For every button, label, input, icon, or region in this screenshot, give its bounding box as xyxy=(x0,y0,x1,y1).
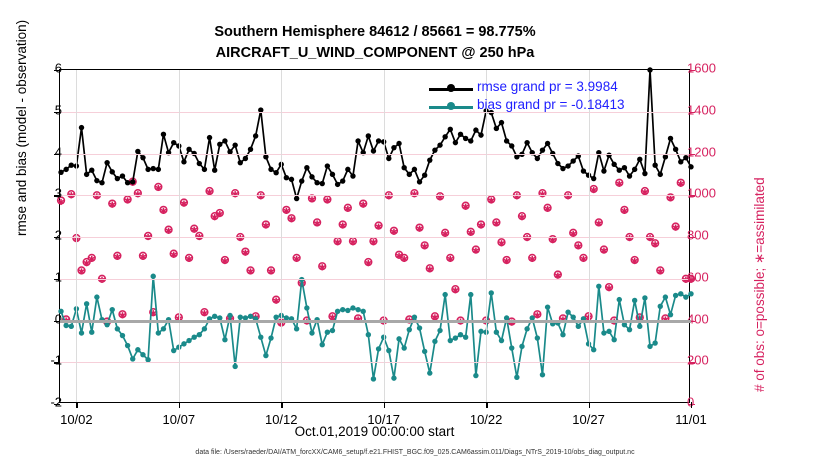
series-point xyxy=(156,330,161,335)
plot-area: 6543210-1-216001400120010008006004002000… xyxy=(59,69,690,403)
series-point xyxy=(576,324,581,329)
series-point xyxy=(632,298,637,303)
series-point xyxy=(340,178,345,183)
series-point xyxy=(499,338,504,343)
gridline-horizontal xyxy=(60,195,691,196)
y-tick-label-right: 600 xyxy=(687,269,709,284)
series-point xyxy=(591,347,596,352)
series-point xyxy=(407,327,412,332)
series-point xyxy=(658,304,663,309)
series-point xyxy=(601,168,606,173)
series-point xyxy=(115,176,120,181)
x-axis-title: Oct.01,2019 00:00:00 start xyxy=(59,424,690,439)
series-point xyxy=(94,178,99,183)
chart-page: Southern Hemisphere 84612 / 85661 = 98.7… xyxy=(0,0,830,470)
series-point xyxy=(427,157,432,162)
series-point xyxy=(69,162,74,167)
series-point xyxy=(473,127,478,132)
series-point xyxy=(437,328,442,333)
series-point xyxy=(366,332,371,337)
series-point xyxy=(683,294,688,299)
series-point xyxy=(156,167,161,172)
series-point xyxy=(463,335,468,340)
series-point xyxy=(647,344,652,349)
legend-label-bias: bias grand pr = -0.18413 xyxy=(477,97,624,112)
series-point xyxy=(181,341,186,346)
series-point xyxy=(371,376,376,381)
series-point xyxy=(432,147,437,152)
gridline-vertical xyxy=(179,70,180,404)
series-point xyxy=(151,166,156,171)
series-point xyxy=(263,353,268,358)
series-point xyxy=(504,138,509,143)
series-point xyxy=(299,178,304,183)
series-point xyxy=(540,372,545,377)
series-point xyxy=(489,290,494,295)
series-point xyxy=(253,133,258,138)
series-point xyxy=(545,304,550,309)
series-point xyxy=(437,142,442,147)
series-point xyxy=(591,176,596,181)
y-tick-label-left: 0 xyxy=(55,311,62,326)
series-point xyxy=(232,364,237,369)
series-point xyxy=(186,338,191,343)
series-point xyxy=(186,147,191,152)
series-point xyxy=(258,335,263,340)
series-point xyxy=(376,346,381,351)
series-point xyxy=(181,159,186,164)
x-tick xyxy=(691,402,692,408)
series-point xyxy=(688,291,693,296)
series-point xyxy=(535,156,540,161)
series-point xyxy=(427,370,432,375)
series-point xyxy=(79,125,84,130)
series-point xyxy=(647,67,652,72)
y-tick-label-right: 800 xyxy=(687,228,709,243)
title-line-1: Southern Hemisphere 84612 / 85661 = 98.7… xyxy=(0,22,750,43)
left-axis-title: rmse and bias (model - observation) xyxy=(14,20,29,236)
series-point xyxy=(120,173,125,178)
series-point xyxy=(125,343,130,348)
series-point xyxy=(668,136,673,141)
y-tick-label-left: 6 xyxy=(55,61,62,76)
series-point xyxy=(448,338,453,343)
series-point xyxy=(663,154,668,159)
y-tick-label-left: 1 xyxy=(55,269,62,284)
series-point xyxy=(524,326,529,331)
series-point xyxy=(468,138,473,143)
series-point xyxy=(458,332,463,337)
series-point xyxy=(652,162,657,167)
series-point xyxy=(89,329,94,334)
series-point xyxy=(509,143,514,148)
series-point xyxy=(637,157,642,162)
y-tick-label-left: 3 xyxy=(55,186,62,201)
series-point xyxy=(519,344,524,349)
series-point xyxy=(376,138,381,143)
series-point xyxy=(309,330,314,335)
series-point xyxy=(478,132,483,137)
series-point xyxy=(130,179,135,184)
series-point xyxy=(494,126,499,131)
series-point xyxy=(227,313,232,318)
series-point xyxy=(161,326,166,331)
x-tick xyxy=(76,402,77,408)
series-point xyxy=(84,172,89,177)
legend-marker-rmse xyxy=(447,84,455,92)
series-point xyxy=(396,141,401,146)
series-point xyxy=(442,134,447,139)
series-point xyxy=(268,335,273,340)
series-point xyxy=(330,328,335,333)
y-tick-label-right: 1600 xyxy=(687,61,716,76)
series-point xyxy=(330,172,335,177)
series-line xyxy=(61,276,691,379)
series-point xyxy=(84,301,89,306)
series-point xyxy=(115,326,120,331)
series-point xyxy=(350,305,355,310)
series-point xyxy=(99,180,104,185)
series-point xyxy=(494,329,499,334)
series-point xyxy=(304,165,309,170)
series-point xyxy=(340,307,345,312)
series-point xyxy=(396,336,401,341)
series-point xyxy=(601,330,606,335)
series-point xyxy=(565,309,570,314)
series-point xyxy=(581,168,586,173)
series-point xyxy=(171,140,176,145)
series-point xyxy=(361,309,366,314)
series-point xyxy=(401,345,406,350)
series-point xyxy=(442,292,447,297)
series-point xyxy=(248,147,253,152)
series-point xyxy=(104,322,109,327)
zero-reference-line xyxy=(60,320,691,323)
title-line-2: AIRCRAFT_U_WIND_COMPONENT @ 250 hPa xyxy=(0,43,750,64)
y-tick-label-right: 1000 xyxy=(687,186,716,201)
series-point xyxy=(212,168,217,173)
series-point xyxy=(202,167,207,172)
gridline-horizontal xyxy=(60,237,691,238)
series-point xyxy=(453,335,458,340)
gridline-vertical xyxy=(76,70,77,404)
series-point xyxy=(642,171,647,176)
series-point xyxy=(432,339,437,344)
series-point xyxy=(678,159,683,164)
series-point xyxy=(417,325,422,330)
series-point xyxy=(514,375,519,380)
y-tick-label-right: 200 xyxy=(687,353,709,368)
series-point xyxy=(658,172,663,177)
series-point xyxy=(207,135,212,140)
series-point xyxy=(422,173,427,178)
series-point xyxy=(545,141,550,146)
series-point xyxy=(63,323,68,328)
series-point xyxy=(284,175,289,180)
series-point xyxy=(632,167,637,172)
y-tick-label-left: 2 xyxy=(55,228,62,243)
series-point xyxy=(478,329,483,334)
series-point xyxy=(79,330,84,335)
series-point xyxy=(120,333,125,338)
series-point xyxy=(622,322,627,327)
series-point xyxy=(535,335,540,340)
series-point xyxy=(110,307,115,312)
series-point xyxy=(355,307,360,312)
series-point xyxy=(335,182,340,187)
series-point xyxy=(611,337,616,342)
series-point xyxy=(412,167,417,172)
series-point xyxy=(386,348,391,353)
series-point xyxy=(320,181,325,186)
series-point xyxy=(94,294,99,299)
series-point xyxy=(294,326,299,331)
series-point xyxy=(263,154,268,159)
series-point xyxy=(540,147,545,152)
series-point xyxy=(622,165,627,170)
legend-marker-bias xyxy=(447,102,455,110)
series-point xyxy=(217,142,222,147)
series-point xyxy=(222,337,227,342)
series-point xyxy=(366,133,371,138)
series-point xyxy=(401,165,406,170)
y-tick-label-left: -2 xyxy=(50,395,62,410)
series-point xyxy=(688,164,693,169)
series-point xyxy=(63,167,68,172)
x-tick xyxy=(384,402,385,408)
series-point xyxy=(171,348,176,353)
series-point xyxy=(248,314,253,319)
series-point xyxy=(197,332,202,337)
series-point xyxy=(627,327,632,332)
series-point xyxy=(335,309,340,314)
series-point xyxy=(145,167,150,172)
footer-datafile: data file: /Users/raeder/DAI/ATM_forcXX/… xyxy=(0,449,830,456)
series-point xyxy=(417,179,422,184)
y-tick-label-left: 4 xyxy=(55,144,62,159)
series-point xyxy=(555,161,560,166)
gridline-vertical xyxy=(486,70,487,404)
series-point xyxy=(642,295,647,300)
gridline-vertical xyxy=(589,70,590,404)
gridline-vertical xyxy=(281,70,282,404)
series-point xyxy=(345,167,350,172)
series-point xyxy=(140,155,145,160)
series-point xyxy=(453,140,458,145)
x-tick xyxy=(589,402,590,408)
series-point xyxy=(125,180,130,185)
series-point xyxy=(212,314,217,319)
series-point xyxy=(468,292,473,297)
series-point xyxy=(652,340,657,345)
series-point xyxy=(391,145,396,150)
series-point xyxy=(325,163,330,168)
series-point xyxy=(627,173,632,178)
series-point xyxy=(232,142,237,147)
series-point xyxy=(524,140,529,145)
series-point xyxy=(668,312,673,317)
series-point xyxy=(130,356,135,361)
series-point xyxy=(345,308,350,313)
legend-label-rmse: rmse grand pr = 3.9984 xyxy=(477,79,618,94)
x-tick xyxy=(281,402,282,408)
series-point xyxy=(238,160,243,165)
x-tick xyxy=(179,402,180,408)
series-point xyxy=(596,284,601,289)
series-point xyxy=(202,326,207,331)
series-point xyxy=(606,329,611,334)
legend-item-rmse: rmse grand pr = 3.9984 xyxy=(425,80,640,98)
series-point xyxy=(309,174,314,179)
series-point xyxy=(463,136,468,141)
series-point xyxy=(314,180,319,185)
series-point xyxy=(222,138,227,143)
series-point xyxy=(673,147,678,152)
series-point xyxy=(304,305,309,310)
series-point xyxy=(391,375,396,380)
series-point xyxy=(448,127,453,132)
series-point xyxy=(565,163,570,168)
gridline-horizontal xyxy=(60,279,691,280)
series-point xyxy=(560,332,565,337)
series-point xyxy=(58,170,63,175)
x-tick xyxy=(486,402,487,408)
series-point xyxy=(499,120,504,125)
right-axis-title: # of obs: o=possible; ∗=assimilated xyxy=(752,177,768,392)
gridline-vertical xyxy=(384,70,385,404)
series-point xyxy=(611,162,616,167)
series-point xyxy=(140,352,145,357)
series-point xyxy=(355,138,360,143)
y-tick-label-right: 1200 xyxy=(687,144,716,159)
series-point xyxy=(289,177,294,182)
series-point xyxy=(191,335,196,340)
series-point xyxy=(320,342,325,347)
series-point xyxy=(678,291,683,296)
series-point xyxy=(89,168,94,173)
series-point xyxy=(617,297,622,302)
series-point xyxy=(458,132,463,137)
y-tick-label-right: 400 xyxy=(687,311,709,326)
series-point xyxy=(197,161,202,166)
series-point xyxy=(560,166,565,171)
series-point xyxy=(325,329,330,334)
series-point xyxy=(407,172,412,177)
y-tick-label-left: 5 xyxy=(55,102,62,117)
series-point xyxy=(135,347,140,352)
series-point xyxy=(243,156,248,161)
series-point xyxy=(422,349,427,354)
series-point xyxy=(473,373,478,378)
series-point xyxy=(514,154,519,159)
y-tick-label-left: -1 xyxy=(50,353,62,368)
page-title: Southern Hemisphere 84612 / 85661 = 98.7… xyxy=(0,22,750,64)
series-point xyxy=(637,324,642,329)
series-point xyxy=(268,167,273,172)
series-point xyxy=(273,170,278,175)
legend-item-bias: bias grand pr = -0.18413 xyxy=(425,98,640,116)
series-point xyxy=(104,160,109,165)
series-point xyxy=(663,294,668,299)
series-point xyxy=(509,345,514,350)
y-tick-label-right: 1400 xyxy=(687,102,716,117)
series-point xyxy=(110,169,115,174)
series-point xyxy=(617,168,622,173)
series-point xyxy=(673,293,678,298)
legend: rmse grand pr = 3.9984 bias grand pr = -… xyxy=(425,80,640,116)
series-point xyxy=(69,324,74,329)
gridline-horizontal xyxy=(60,154,691,155)
series-point xyxy=(350,173,355,178)
series-point xyxy=(386,156,391,161)
gridline-horizontal xyxy=(60,362,691,363)
series-point xyxy=(294,196,299,201)
series-point xyxy=(570,158,575,163)
series-point xyxy=(161,132,166,137)
